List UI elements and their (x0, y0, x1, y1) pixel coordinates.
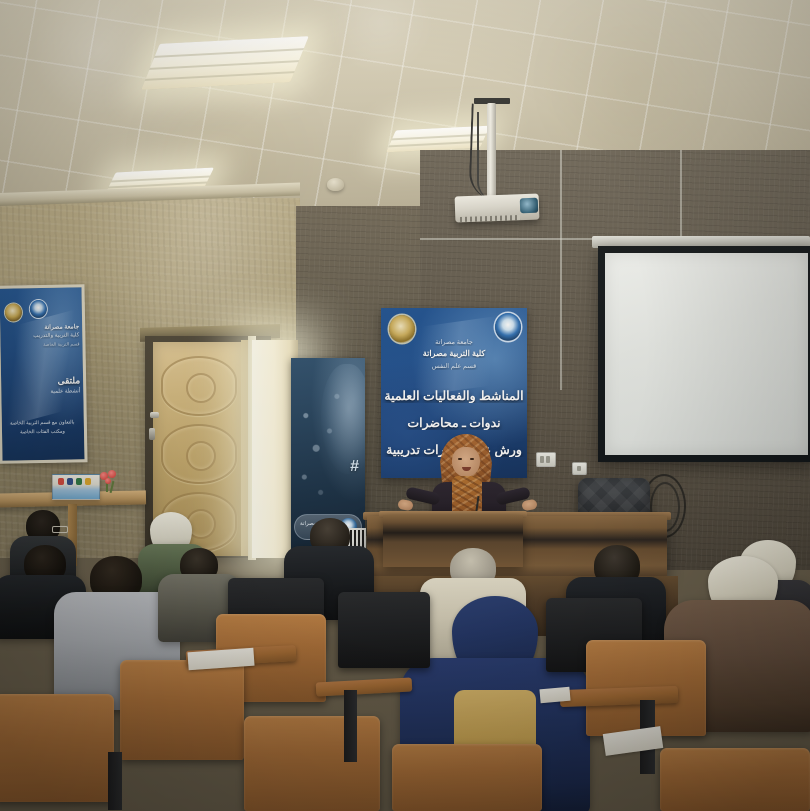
left-wall-poster: جامعة مصراتة كلية التربية والتدريب قسم ا… (0, 284, 88, 464)
power-outlet-plate[interactable] (572, 462, 587, 475)
projection-screen-surface (605, 253, 808, 455)
door-carving-eye-icon (161, 356, 237, 416)
college-seal-icon (495, 313, 521, 341)
red-flowers (98, 470, 118, 492)
lecture-chair[interactable] (120, 660, 244, 760)
college-seal-icon (30, 300, 47, 318)
poster-footer-line-2: ومكتب الفئات الخاصة (4, 428, 81, 435)
banner-university: جامعة مصراتة (381, 338, 527, 346)
lecture-chair[interactable] (244, 716, 380, 811)
ceiling-speaker-icon (327, 178, 344, 191)
hashtag-icon: # (350, 458, 359, 476)
eyeglasses-icon (52, 526, 68, 533)
lecture-chair[interactable] (660, 748, 810, 811)
handout-paper[interactable] (539, 687, 570, 704)
chair-support-post (344, 690, 357, 762)
light-switch-plate[interactable] (536, 452, 556, 467)
presenter-face (452, 447, 480, 477)
door-handle-icon[interactable] (150, 412, 159, 418)
poster-footer-line-1: بالتعاون مع قسم التربية الخاصة (4, 419, 81, 426)
banner-college: كلية التربية مصراتة (381, 349, 527, 358)
banner-headline-1: المناشط والفعاليات العلمية (381, 388, 527, 403)
projector-cable (477, 112, 495, 200)
ceiling-light-panel (141, 36, 309, 90)
lecture-hall-photo: جامعة مصراتة كلية التربية والتدريب قسم ا… (0, 0, 810, 811)
projection-screen[interactable] (598, 246, 810, 462)
poster-title: ملتقى (57, 375, 80, 386)
banner-department: قسم علم النفس (381, 362, 527, 370)
poster-university: جامعة مصراتة (2, 323, 79, 331)
lecture-chair[interactable] (338, 592, 430, 668)
banner-headline-2: ندوات ـ محاضرات (381, 415, 527, 430)
door-lock-icon[interactable] (149, 428, 155, 440)
poster-subtitle: أنشطة علمية (50, 388, 80, 395)
projector-lens-icon (520, 198, 539, 214)
chair-writing-tablet[interactable] (316, 677, 413, 696)
lecture-chair[interactable] (392, 744, 542, 811)
door-carving-eye-icon (161, 424, 237, 484)
gift-box (52, 474, 100, 500)
university-seal-icon (5, 303, 22, 321)
chair-support-post (108, 752, 122, 810)
lecture-chair[interactable] (0, 694, 114, 802)
